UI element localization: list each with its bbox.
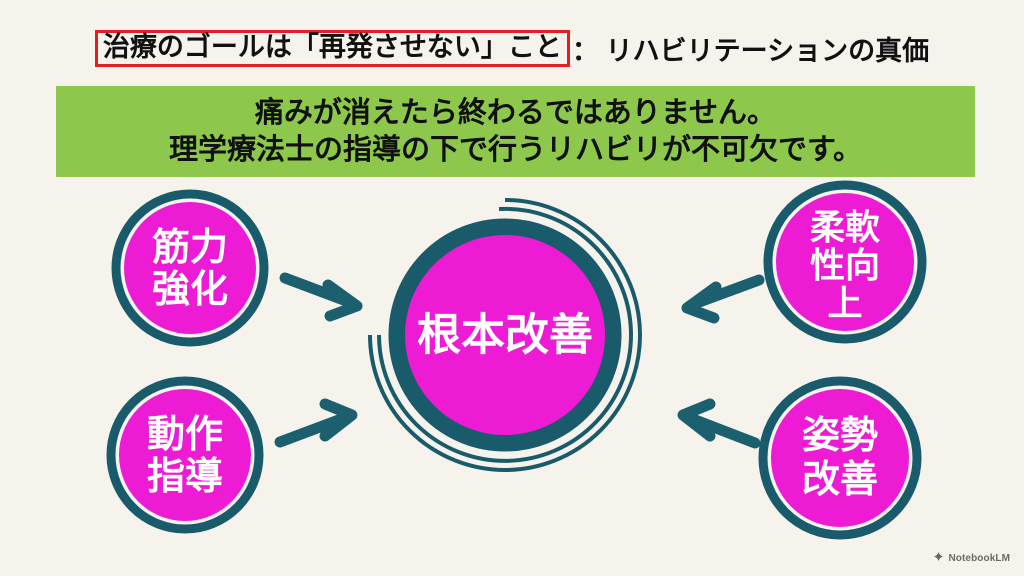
- arrow-bottom-left-to-center: [280, 404, 352, 442]
- page-title: 治療のゴールは「再発させない」こと ： リハビリテーションの真価: [0, 24, 1024, 72]
- node-movement-guidance-line-1: 動作: [147, 414, 223, 456]
- slide-canvas: 治療のゴールは「再発させない」こと ： リハビリテーションの真価 痛みが消えたら…: [0, 0, 1024, 576]
- title-subtitle-text: ： リハビリテーションの真価: [572, 29, 929, 68]
- node-muscle-strength-line-1: 筋力: [152, 227, 228, 269]
- node-flexibility-line-2: 性向: [810, 247, 880, 286]
- notebooklm-watermark: NotebookLM: [933, 549, 1010, 567]
- node-posture-line-1: 姿勢: [802, 415, 878, 457]
- center-node-label: 根本改善: [417, 311, 593, 360]
- banner-line-1: 痛みが消えたら終わるではありません。: [255, 95, 776, 132]
- node-flexibility[interactable]: 柔軟 性向 上: [768, 185, 922, 339]
- title-highlight-box: 治療のゴールは「再発させない」こと: [95, 30, 570, 67]
- notebooklm-watermark-label: NotebookLM: [948, 553, 1010, 564]
- node-posture-line-2: 改善: [802, 459, 878, 501]
- node-posture-circle[interactable]: [771, 389, 909, 527]
- node-flexibility-line-1: 柔軟: [810, 209, 881, 248]
- node-posture[interactable]: 姿勢 改善: [763, 381, 917, 535]
- banner-line-2: 理学療法士の指導の下で行うリハビリが不可欠です。: [169, 132, 862, 169]
- arrow-top-left-to-center: [285, 278, 357, 316]
- title-boxed-text: 治療のゴールは「再発させない」こと: [103, 32, 562, 62]
- node-flexibility-line-3: 上: [827, 285, 862, 324]
- node-muscle-strength-line-2: 強化: [152, 269, 228, 311]
- highlight-banner: 痛みが消えたら終わるではありません。 理学療法士の指導の下で行うリハビリが不可欠…: [56, 86, 975, 177]
- concept-diagram: 根本改善 筋力 強化 動作 指導 柔軟 性向 上: [0, 180, 1024, 576]
- node-movement-guidance-line-2: 指導: [147, 456, 223, 498]
- arrow-top-right-to-center: [687, 280, 759, 318]
- arrow-bottom-right-to-center: [683, 404, 755, 443]
- node-muscle-strength[interactable]: 筋力 強化: [116, 194, 264, 342]
- notebooklm-spark-icon: [933, 549, 944, 567]
- node-movement-guidance[interactable]: 動作 指導: [111, 381, 259, 529]
